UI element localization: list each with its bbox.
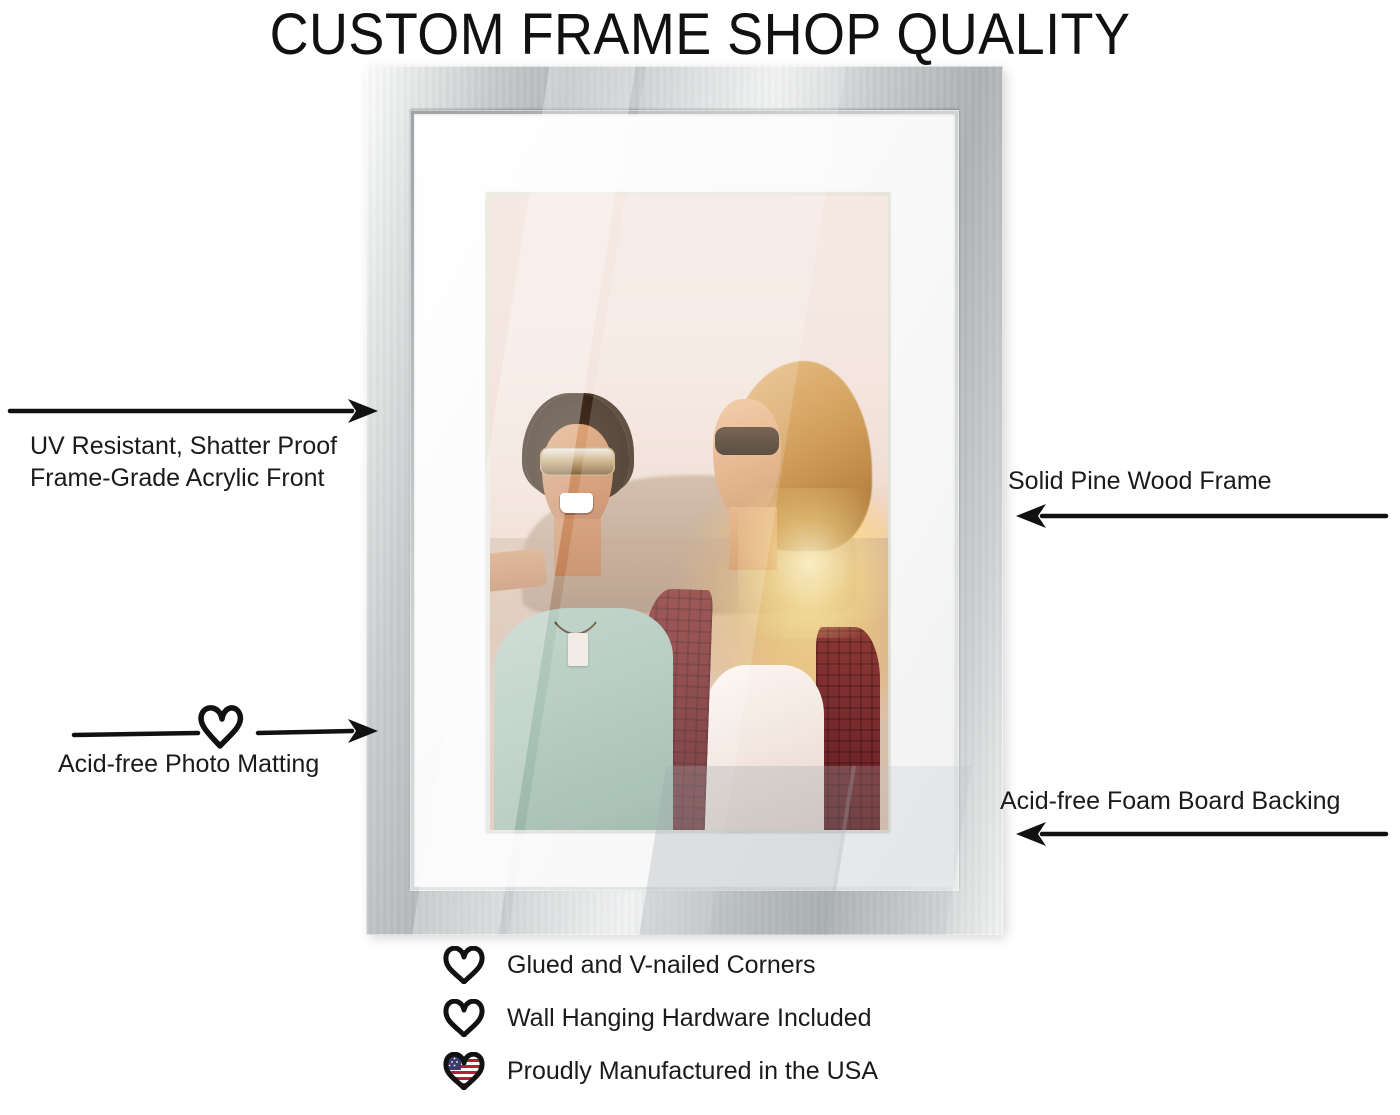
photo-man-arm bbox=[490, 548, 548, 592]
list-item: Proudly Manufactured in the USA bbox=[443, 1046, 1003, 1096]
page-title: CUSTOM FRAME SHOP QUALITY bbox=[49, 4, 1351, 66]
list-item: Glued and V-nailed Corners bbox=[443, 940, 1003, 990]
heart-outline-icon bbox=[201, 708, 240, 746]
feature-bullet-list: Glued and V-nailed Corners Wall Hanging … bbox=[443, 940, 1003, 1099]
heart-usa-flag-icon bbox=[443, 1051, 489, 1091]
callout-label-backing: Acid-free Foam Board Backing bbox=[1000, 785, 1340, 817]
list-item-label: Glued and V-nailed Corners bbox=[507, 950, 816, 980]
list-item-label: Wall Hanging Hardware Included bbox=[507, 1003, 872, 1033]
arrow-left-icon-pine bbox=[998, 500, 1390, 534]
photo-woman-tank-top bbox=[705, 665, 824, 830]
photo-man-dog-tag bbox=[568, 633, 588, 666]
photo-artwork bbox=[490, 196, 888, 830]
photo-woman-flannel-right bbox=[816, 627, 880, 830]
callout-label-matting: Acid-free Photo Matting bbox=[58, 748, 319, 780]
product-feature-infographic: CUSTOM FRAME SHOP QUALITY bbox=[0, 0, 1400, 1115]
photo-lens-flare bbox=[738, 488, 888, 638]
callout-pine-line1: Solid Pine Wood Frame bbox=[1008, 465, 1272, 497]
heart-outline-icon bbox=[443, 945, 489, 985]
callout-label-acrylic: UV Resistant, Shatter Proof Frame-Grade … bbox=[30, 430, 337, 494]
photo-man-smile bbox=[560, 493, 594, 513]
photo-man-sunglasses bbox=[540, 447, 616, 476]
arrow-left-icon-backing bbox=[998, 818, 1390, 852]
callout-label-pine: Solid Pine Wood Frame bbox=[1008, 465, 1272, 497]
list-item: Wall Hanging Hardware Included bbox=[443, 993, 1003, 1043]
list-item-label: Proudly Manufactured in the USA bbox=[507, 1056, 878, 1086]
heart-outline-icon bbox=[443, 998, 489, 1038]
photo-woman-sunglasses bbox=[715, 427, 779, 455]
framed-picture bbox=[366, 66, 1006, 938]
photo-man-neck bbox=[554, 519, 602, 576]
callout-acrylic-line2: Frame-Grade Acrylic Front bbox=[30, 462, 337, 494]
callout-matting-line1: Acid-free Photo Matting bbox=[58, 748, 319, 780]
callout-backing-line1: Acid-free Foam Board Backing bbox=[1000, 785, 1340, 817]
callout-acrylic-line1: UV Resistant, Shatter Proof bbox=[30, 430, 337, 462]
arrow-right-with-heart-icon-matting bbox=[70, 700, 382, 750]
arrow-right-icon-acrylic bbox=[4, 396, 384, 426]
